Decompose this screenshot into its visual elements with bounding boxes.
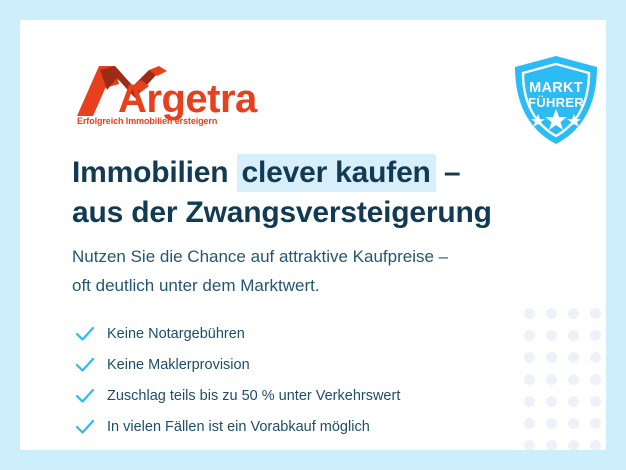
subtitle-line-1: Nutzen Sie die Chance auf attraktive Kau… — [72, 242, 572, 271]
page-title: Immobilien clever kaufen – aus der Zwang… — [72, 153, 542, 233]
list-item-label: Zuschlag teils bis zu 50 % unter Verkehr… — [107, 388, 400, 404]
subtitle-line-2: oft deutlich unter dem Marktwert. — [72, 271, 572, 300]
decorative-dot — [568, 308, 579, 319]
promo-banner: Argetra Erfolgreich Immobilien ersteiger… — [0, 0, 626, 470]
decorative-dot — [546, 440, 557, 451]
decorative-dot — [590, 330, 601, 341]
banner-card: Argetra Erfolgreich Immobilien ersteiger… — [20, 20, 606, 450]
list-item: Keine Maklerprovision — [74, 349, 514, 380]
check-icon — [74, 416, 96, 438]
decorative-dot — [524, 374, 535, 385]
decorative-dot — [546, 330, 557, 341]
decorative-dot — [590, 418, 601, 429]
subtitle: Nutzen Sie die Chance auf attraktive Kau… — [72, 242, 572, 300]
decorative-dot — [568, 418, 579, 429]
list-item: Zuschlag teils bis zu 50 % unter Verkehr… — [74, 380, 514, 411]
decorative-dot — [546, 374, 557, 385]
decorative-dot — [546, 308, 557, 319]
decorative-dot — [524, 396, 535, 407]
headline-text-before: Immobilien — [72, 156, 237, 189]
list-item: Keine Notargebühren — [74, 318, 514, 349]
decorative-dot — [524, 418, 535, 429]
decorative-dot — [590, 396, 601, 407]
decorative-dot — [568, 396, 579, 407]
headline-line-2: aus der Zwangsversteigerung — [72, 193, 542, 233]
headline-line-1: Immobilien clever kaufen – — [72, 153, 542, 193]
list-item-label: Keine Maklerprovision — [107, 357, 250, 373]
list-item-label: Keine Notargebühren — [107, 326, 245, 342]
headline-text-after: – — [436, 156, 461, 189]
badge-line1-text: MARKT — [529, 80, 583, 96]
decorative-dot — [590, 308, 601, 319]
headline-highlight: clever kaufen — [237, 154, 436, 192]
check-icon — [74, 323, 96, 345]
decorative-dot — [524, 308, 535, 319]
decorative-dot — [590, 440, 601, 451]
svg-text:Argetra: Argetra — [118, 77, 258, 121]
decorative-dot — [568, 374, 579, 385]
decorative-dot — [524, 440, 535, 451]
list-item-label: In vielen Fällen ist ein Vorabkauf mögli… — [107, 419, 370, 435]
benefits-list: Keine Notargebühren Keine Maklerprovisio… — [74, 318, 514, 442]
check-icon — [74, 385, 96, 407]
decorative-dot — [568, 330, 579, 341]
decorative-dot — [546, 352, 557, 363]
logo-tagline: Erfolgreich Immobilien ersteigern — [77, 116, 217, 126]
badge-line2-text: FÜHRER — [528, 95, 584, 110]
decorative-dot — [568, 352, 579, 363]
decorative-dot — [590, 352, 601, 363]
decorative-dot — [546, 396, 557, 407]
market-leader-badge: MARKT FÜHRER — [509, 53, 603, 147]
decorative-dot — [524, 330, 535, 341]
decorative-dot — [546, 418, 557, 429]
decorative-dot — [590, 374, 601, 385]
decorative-dot — [568, 440, 579, 451]
check-icon — [74, 354, 96, 376]
decorative-dot-grid — [518, 302, 606, 450]
decorative-dot — [524, 352, 535, 363]
list-item: In vielen Fällen ist ein Vorabkauf mögli… — [74, 411, 514, 442]
